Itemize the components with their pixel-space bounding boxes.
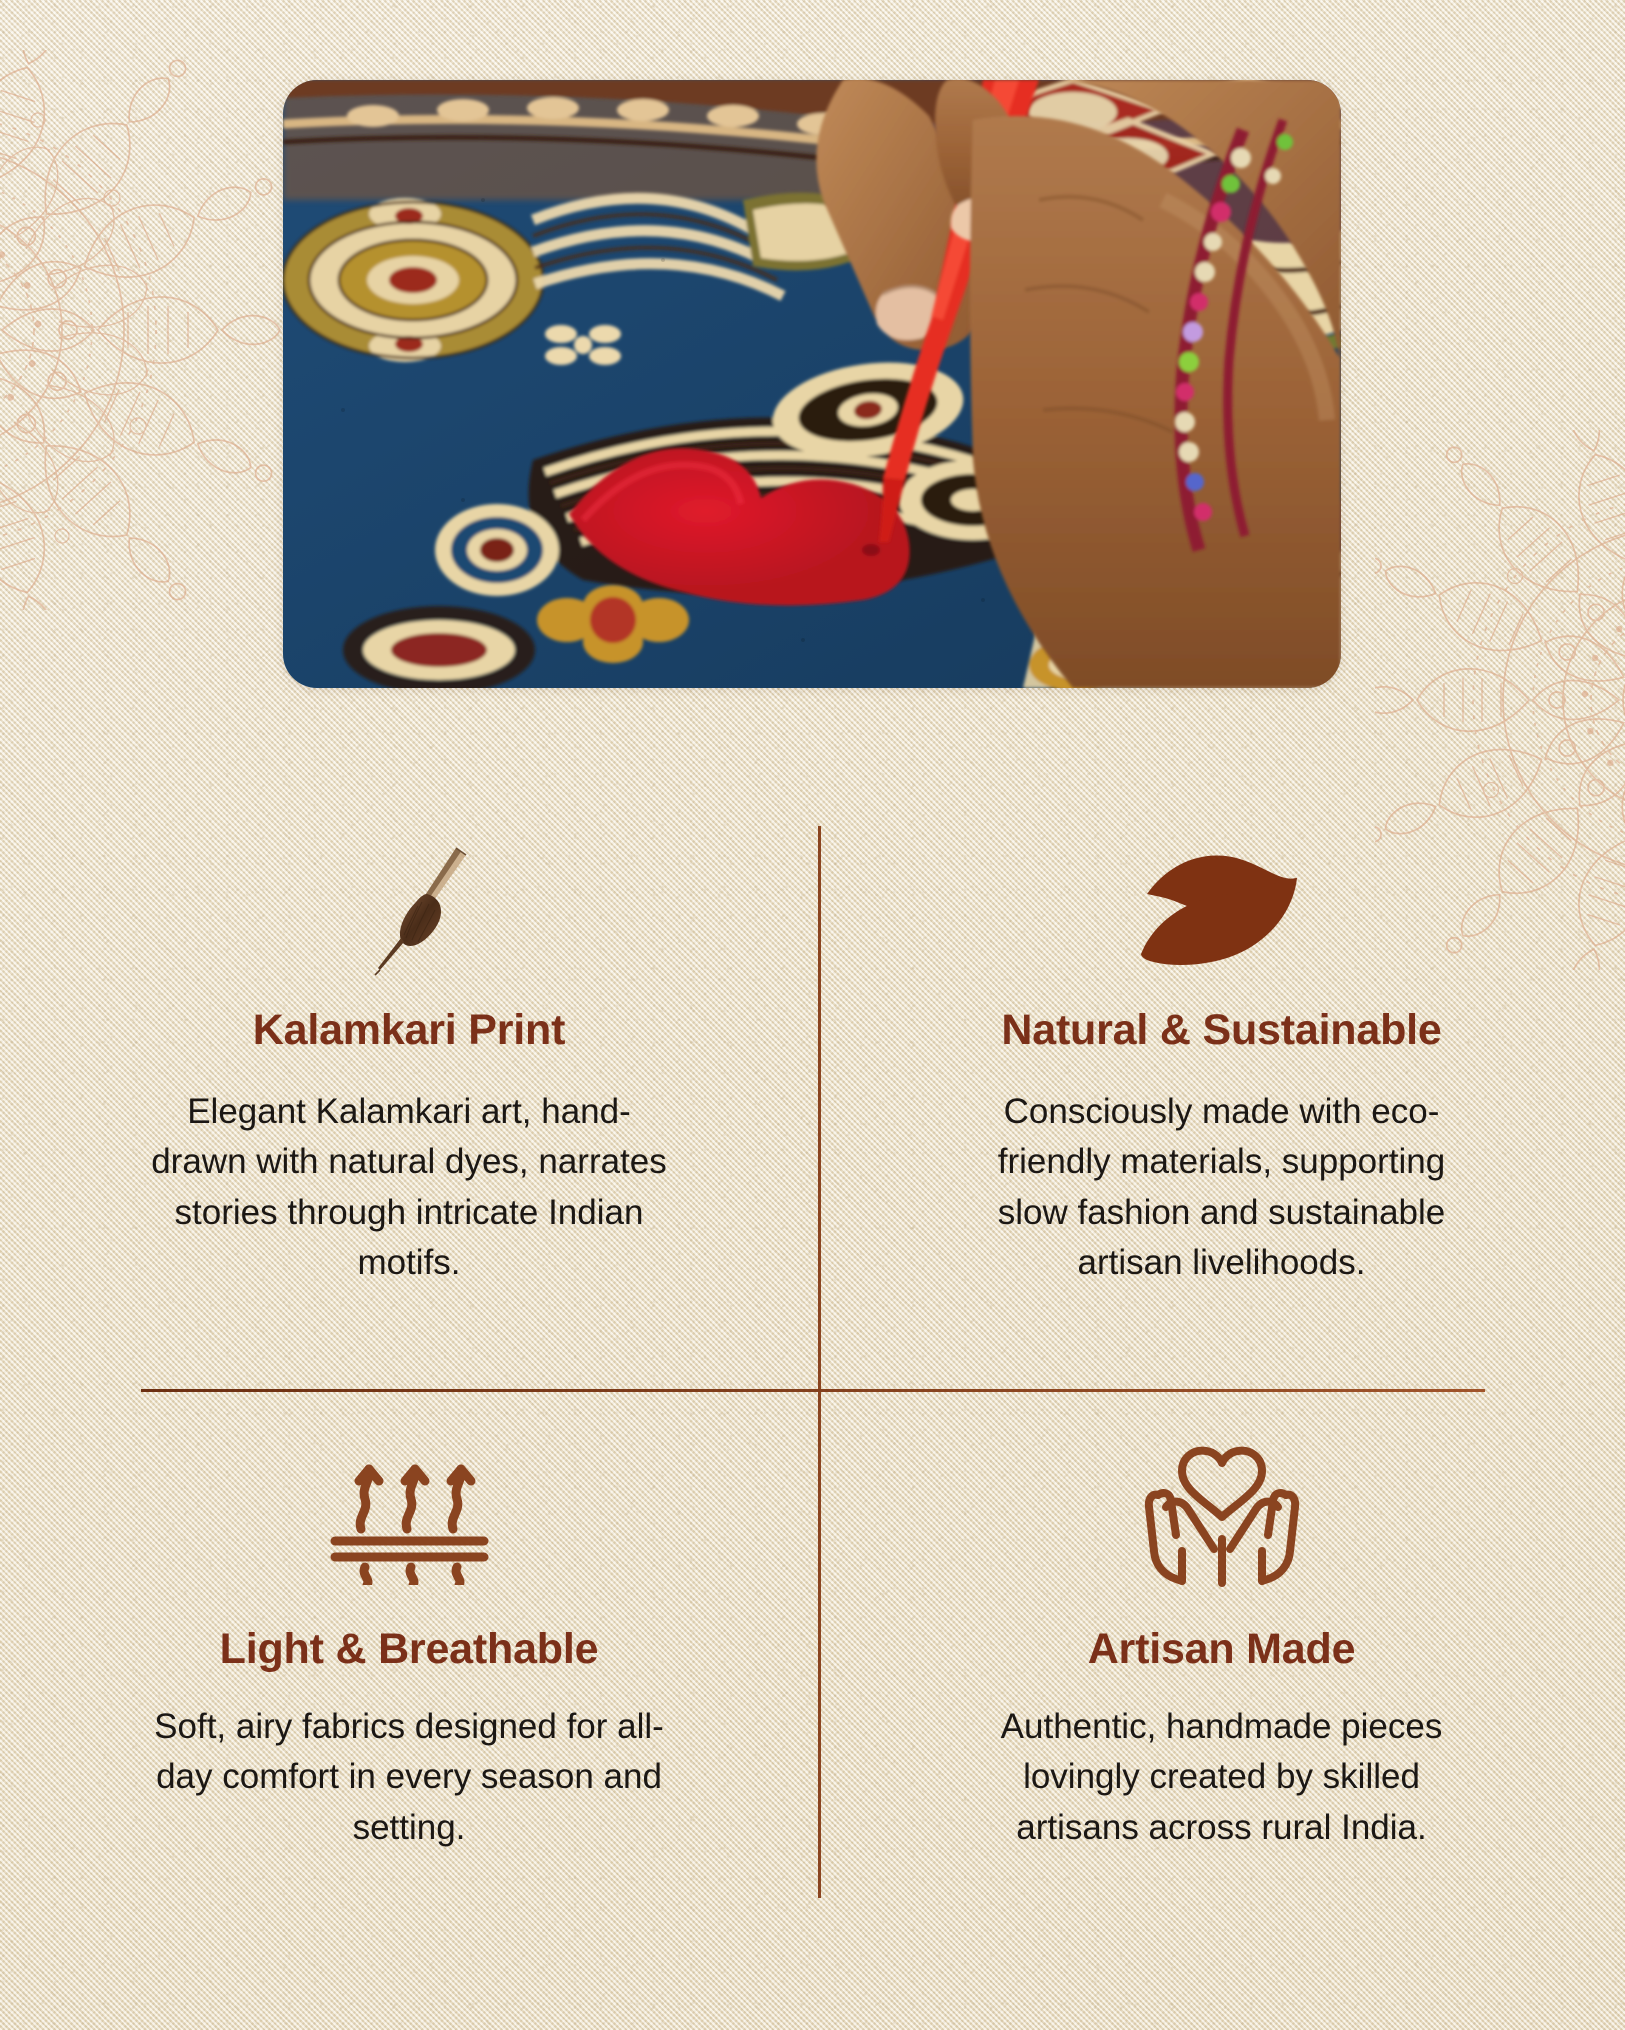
kalam-pen-icon [334, 832, 484, 982]
feature-title: Kalamkari Print [253, 1006, 565, 1055]
feature-card-artisan-made: Artisan Made Authentic, handmade pieces … [818, 1375, 1625, 1950]
icon-container [1137, 822, 1307, 992]
feature-grid: Kalamkari Print Elegant Kalamkari art, h… [0, 800, 1625, 1950]
hands-holding-heart-icon [1142, 1443, 1302, 1588]
feature-description: Authentic, handmade pieces lovingly crea… [962, 1702, 1482, 1853]
feature-description: Elegant Kalamkari art, hand-drawn with n… [149, 1087, 669, 1289]
breathable-airflow-icon [327, 1445, 492, 1585]
icon-container [334, 822, 484, 992]
icon-container [327, 1435, 492, 1595]
feature-title: Artisan Made [1088, 1625, 1356, 1674]
leaf-icon [1137, 842, 1307, 972]
mandala-ornament-top-left [0, 50, 282, 610]
feature-card-light-breathable: Light & Breathable Soft, airy fabrics de… [0, 1375, 818, 1950]
feature-card-natural-sustainable: Natural & Sustainable Consciously made w… [818, 800, 1625, 1375]
icon-container [1142, 1435, 1302, 1595]
feature-description: Soft, airy fabrics designed for all-day … [149, 1702, 669, 1853]
feature-card-kalamkari-print: Kalamkari Print Elegant Kalamkari art, h… [0, 800, 818, 1375]
feature-title: Natural & Sustainable [1001, 1006, 1441, 1055]
feature-description: Consciously made with eco-friendly mater… [962, 1087, 1482, 1289]
kalamkari-artisan-painting-photo [283, 80, 1341, 688]
hero-image [283, 80, 1341, 688]
feature-title: Light & Breathable [220, 1625, 599, 1674]
